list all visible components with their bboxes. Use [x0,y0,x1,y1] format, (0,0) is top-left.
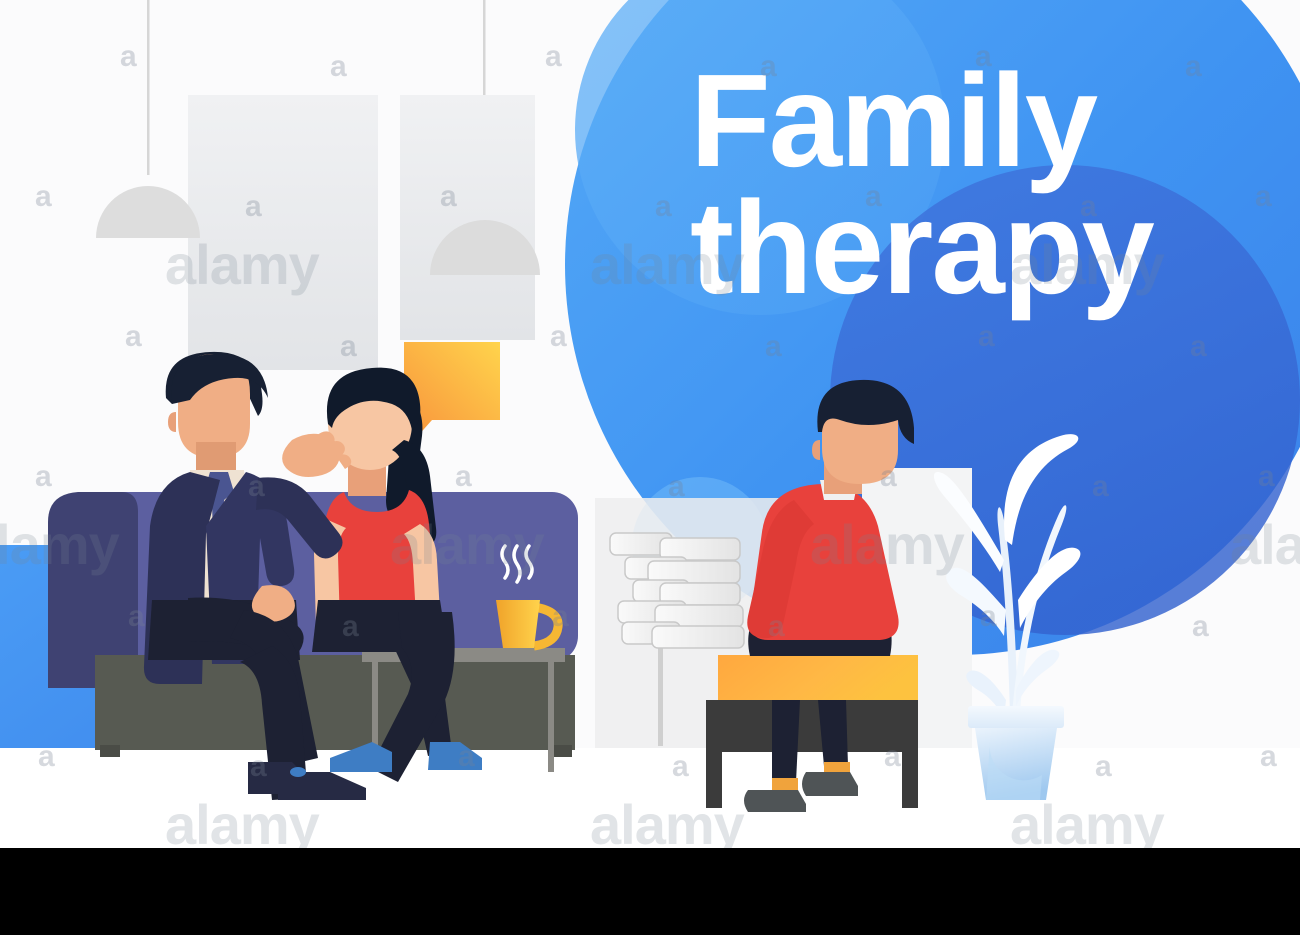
lamp-cord-left [147,0,150,175]
bench-cushion [718,655,918,701]
credit-bar: alamy Image ID: 2J4PKMK www.alamy.com [0,848,1300,935]
sofa-leg-left [100,745,120,757]
man-shoe-highlight [290,767,306,777]
wall-frame-left [188,95,378,370]
bench-leg-left [706,700,722,808]
sofa-leg-right [552,745,572,757]
red-man-shoe-right [802,772,858,796]
red-man-shoe-left [744,790,806,812]
cup-body [496,600,540,648]
bench-leg-right [902,700,918,808]
red-man-leg-left [772,700,800,782]
plant-pot-rim [968,706,1064,728]
wall-frame-right [400,95,535,340]
floor [0,748,1300,848]
illustration-canvas [0,0,1300,848]
red-man-sock-left [772,778,798,792]
screenshot-root: Family therapy aaaaaaaaaaaaaaaaaaaaaaaaa… [0,0,1300,935]
table-leg-right [548,662,554,772]
bench-frame-top [706,700,918,752]
